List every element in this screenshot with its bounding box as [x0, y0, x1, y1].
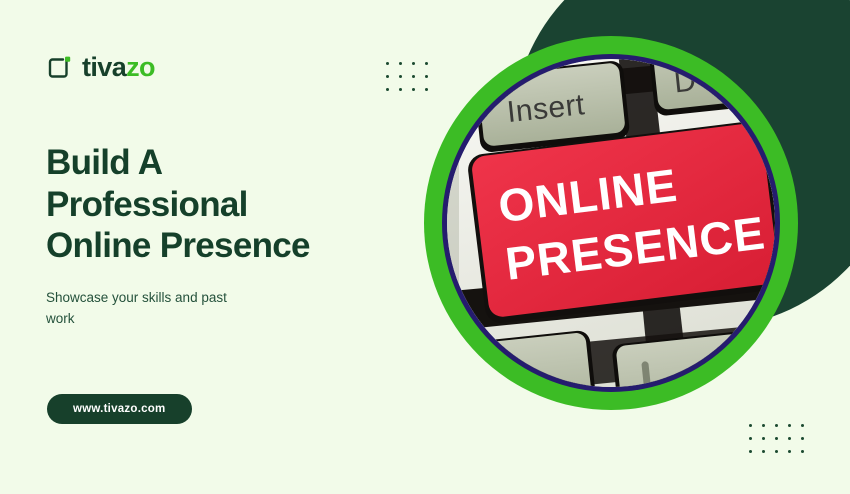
grid-dot [775, 450, 778, 453]
grid-dot [801, 450, 804, 453]
brand-name-dark: tiva [82, 52, 126, 82]
grid-dot [386, 75, 389, 78]
svg-text:D: D [672, 64, 697, 99]
grid-dot [775, 437, 778, 440]
grid-dot [788, 424, 791, 427]
grid-dot [399, 88, 402, 91]
grid-dot [801, 424, 804, 427]
website-url-button[interactable]: www.tivazo.com [47, 394, 192, 424]
grid-dot [399, 62, 402, 65]
bracket-square-icon [46, 54, 73, 81]
grid-dot [762, 424, 765, 427]
grid-dot [775, 424, 778, 427]
grid-dot [788, 437, 791, 440]
grid-dot [386, 62, 389, 65]
poster-canvas: Insert D ONLINE PRES [0, 0, 850, 494]
page-title: Build A Professional Online Presence [46, 142, 310, 267]
grid-dot [386, 88, 389, 91]
grid-dot [425, 88, 428, 91]
grid-dot [412, 62, 415, 65]
grid-dot [412, 88, 415, 91]
grid-dot [399, 75, 402, 78]
grid-dot [425, 75, 428, 78]
page-subtitle: Showcase your skills and past work [46, 288, 298, 330]
dot-grid-bottom [749, 424, 814, 463]
brand-wordmark: tivazo [82, 54, 155, 81]
grid-dot [749, 437, 752, 440]
brand-logo[interactable]: tivazo [46, 54, 155, 81]
grid-dot [762, 450, 765, 453]
grid-dot [749, 450, 752, 453]
grid-dot [788, 450, 791, 453]
grid-dot [749, 424, 752, 427]
grid-dot [762, 437, 765, 440]
hero-image-circle: Insert D ONLINE PRES [424, 36, 798, 410]
grid-dot [801, 437, 804, 440]
keyboard-photo: Insert D ONLINE PRES [447, 59, 775, 387]
grid-dot [425, 62, 428, 65]
grid-dot [412, 75, 415, 78]
dot-grid-top [386, 62, 438, 101]
brand-name-accent: zo [126, 52, 155, 82]
hero-inner-ring: Insert D ONLINE PRES [442, 54, 780, 392]
